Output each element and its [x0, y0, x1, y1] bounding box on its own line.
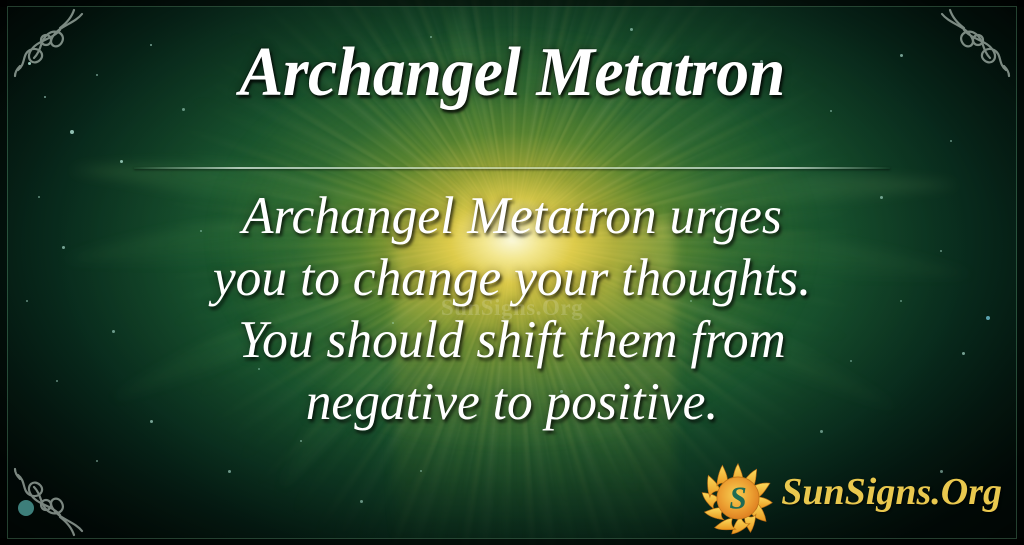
message-line-4: negative to positive.: [76, 371, 949, 433]
logo-monogram: S: [730, 481, 747, 516]
title-divider: [134, 167, 890, 169]
poster-message: Archangel Metatron urges you to change y…: [76, 185, 949, 433]
logo-brand-text: SunSigns.Org: [781, 470, 1002, 526]
poster-canvas: Archangel Metatron Archangel Metatron ur…: [0, 0, 1024, 545]
page-title: Archangel Metatron: [239, 38, 784, 108]
sun-logo-icon: S: [699, 459, 777, 537]
message-line-1: Archangel Metatron urges: [76, 185, 949, 247]
message-line-3: You should shift them from: [76, 309, 949, 371]
sunsigns-logo[interactable]: S SunSigns.Org: [699, 459, 1002, 537]
message-line-2: you to change your thoughts.: [76, 247, 949, 309]
